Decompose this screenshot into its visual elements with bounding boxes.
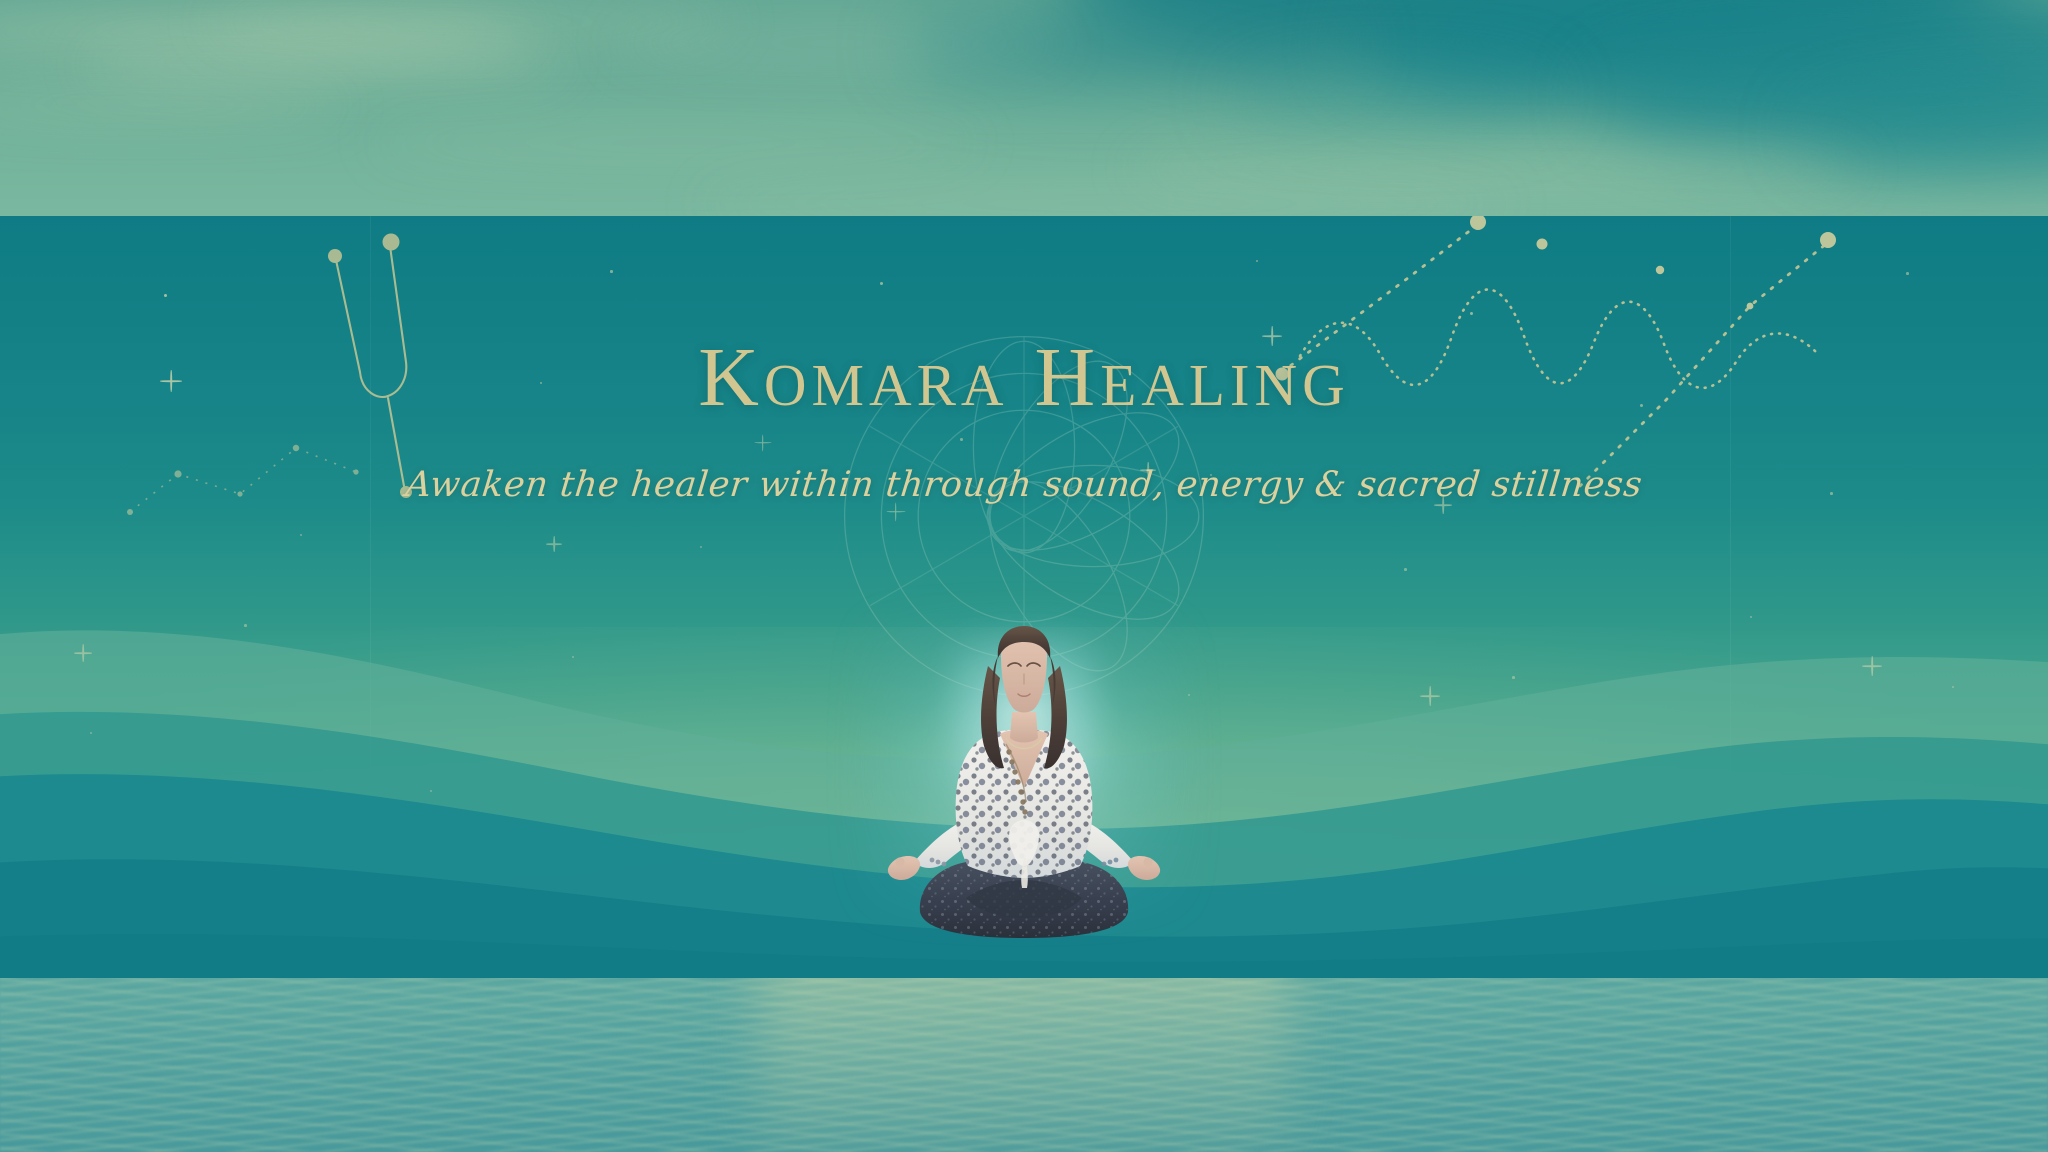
wispy-cloud [1126, 150, 1863, 186]
cloud-bank [1229, 71, 1557, 121]
wispy-cloud [0, 93, 348, 117]
wispy-cloud [82, 50, 574, 79]
film-grain-texture [0, 216, 2048, 978]
overlay-banner-panel: Komara Healing Awaken the healer within … [0, 216, 2048, 978]
wispy-cloud [369, 129, 983, 158]
wispy-cloud [614, 29, 1065, 58]
banner-stage: Komara Healing Awaken the healer within … [0, 0, 2048, 1152]
wispy-cloud [205, 7, 737, 36]
